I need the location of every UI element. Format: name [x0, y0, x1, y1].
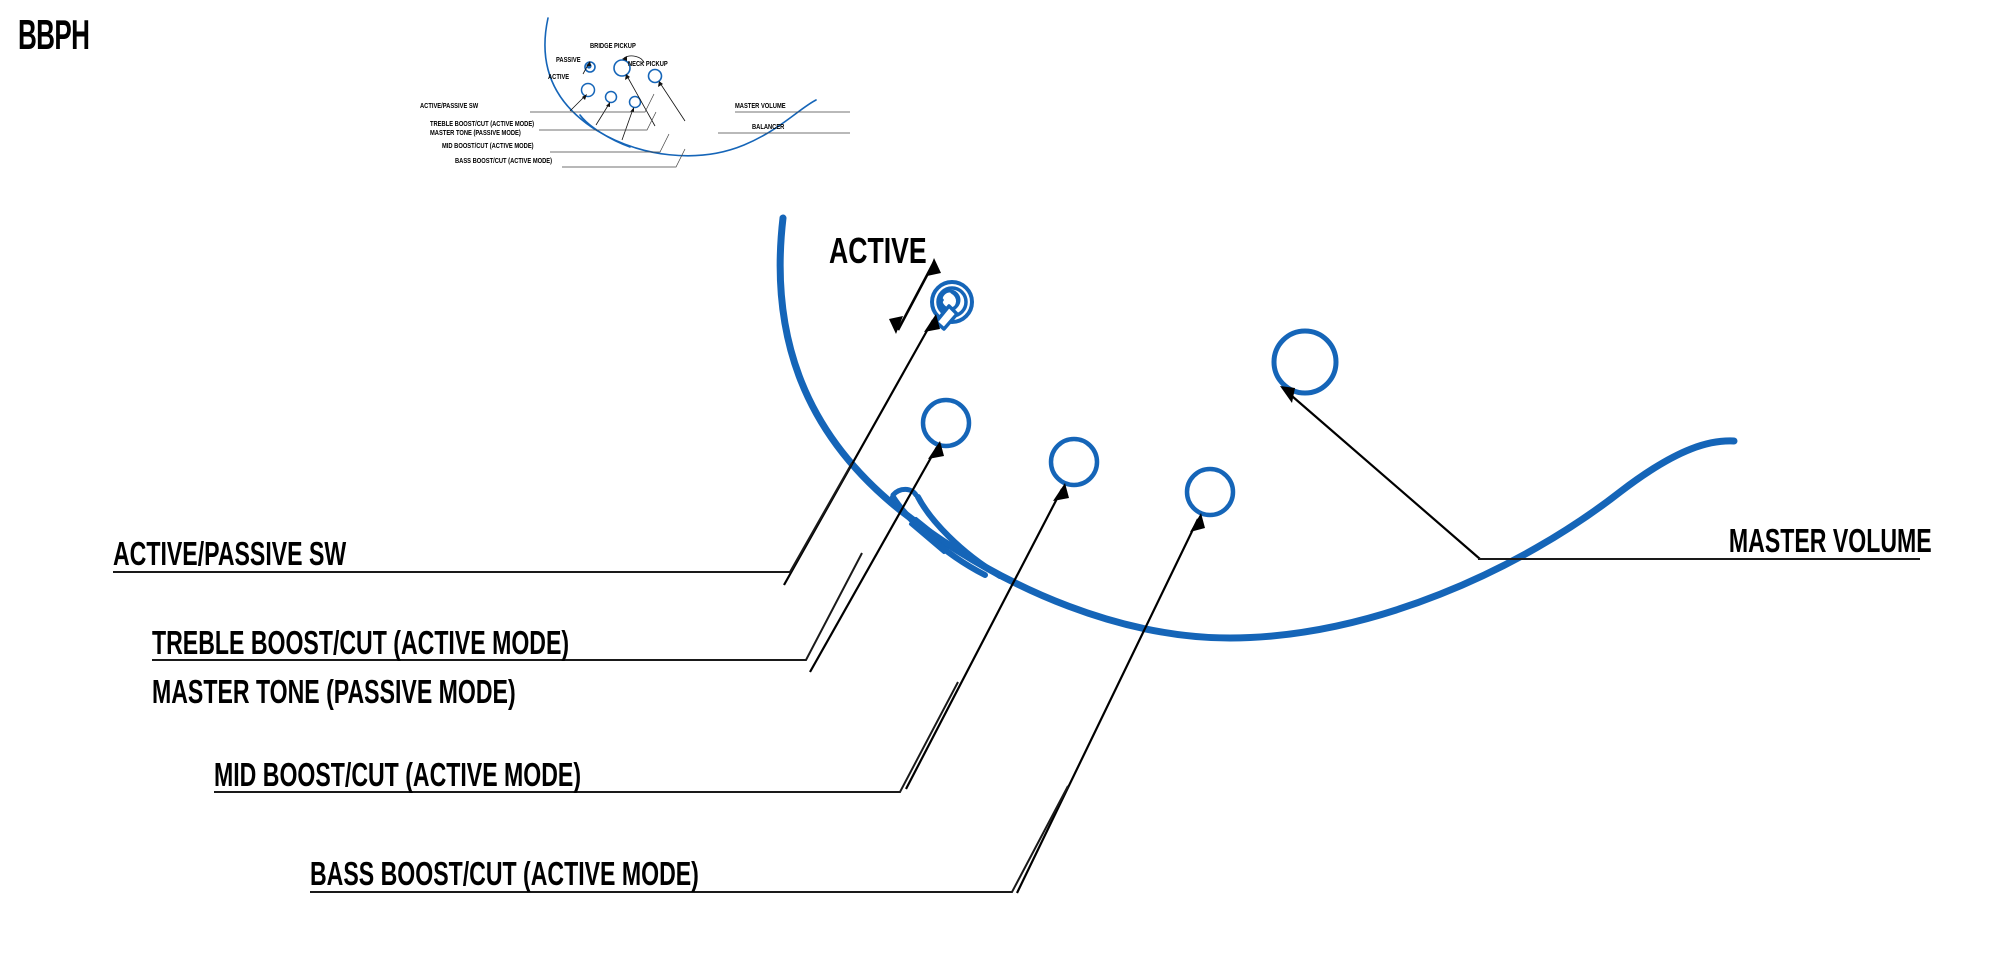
- callout-bass-boost-cut: BASS BOOST/CUT (ACTIVE MODE): [310, 857, 699, 890]
- inset-label-treble-boost-cut: TREBLE BOOST/CUT (ACTIVE MODE): [430, 120, 534, 127]
- inset-label-neck-pickup: NECK PICKUP: [628, 60, 668, 67]
- callout-active-passive-sw: ACTIVE/PASSIVE SW: [113, 537, 346, 570]
- bass-body-outline-icon: [545, 18, 816, 156]
- leader-arrow-icon: [596, 102, 610, 125]
- knob-circle-icon: [649, 70, 662, 83]
- page-title: BBPH: [18, 14, 89, 56]
- pickup-icon: [580, 115, 630, 147]
- knob-circle-icon: [582, 84, 595, 97]
- callout-mid-boost-cut: MID BOOST/CUT (ACTIVE MODE): [214, 758, 581, 791]
- leader-arrow-icon: [1280, 386, 1480, 559]
- inset-label-master-volume: MASTER VOLUME: [735, 102, 786, 109]
- inset-label-bass-boost-cut: BASS BOOST/CUT (ACTIVE MODE): [455, 157, 552, 164]
- diagram-canvas: PASSIVE ACTIVE ACTIVE/PASSIVE SW TREBLE …: [0, 0, 2000, 960]
- leader-line: [539, 112, 656, 130]
- inset-label-mid-boost-cut: MID BOOST/CUT (ACTIVE MODE): [442, 142, 534, 149]
- inset-label-master-tone: MASTER TONE (PASSIVE MODE): [430, 129, 521, 136]
- knob-circle-icon: [606, 92, 617, 103]
- inset-reference-diagram: PASSIVE ACTIVE BRIDGE PICKUP NECK PICKUP…: [530, 16, 850, 191]
- leader-arrow-icon: [784, 314, 940, 585]
- knob-circle-icon[interactable]: [1187, 469, 1233, 515]
- leader-arrow-icon: [810, 441, 944, 672]
- leader-arrow-icon: [1017, 513, 1205, 893]
- inset-diagram-svg: [530, 16, 850, 191]
- callout-master-volume: MASTER VOLUME: [1729, 524, 1932, 557]
- knob-circle-icon: [630, 97, 641, 108]
- callout-treble-boost-cut: TREBLE BOOST/CUT (ACTIVE MODE): [152, 626, 569, 659]
- active-switch-label: ACTIVE: [829, 233, 927, 269]
- inset-label-bridge-pickup: BRIDGE PICKUP: [590, 42, 636, 49]
- inset-label-passive: PASSIVE: [556, 56, 581, 63]
- leader-arrow-icon: [658, 81, 685, 121]
- callout-master-tone: MASTER TONE (PASSIVE MODE): [152, 675, 516, 708]
- inset-label-active: ACTIVE: [548, 73, 569, 80]
- knob-circle-icon[interactable]: [1274, 331, 1336, 393]
- knob-circle-icon[interactable]: [923, 400, 969, 446]
- inset-overlap-mask: [860, 0, 1100, 192]
- knob-circle-icon[interactable]: [1051, 439, 1097, 485]
- leader-arrow-icon: [570, 94, 587, 111]
- inset-label-balancer: BALANCER: [752, 123, 784, 130]
- inset-label-active-passive-sw: ACTIVE/PASSIVE SW: [420, 102, 478, 109]
